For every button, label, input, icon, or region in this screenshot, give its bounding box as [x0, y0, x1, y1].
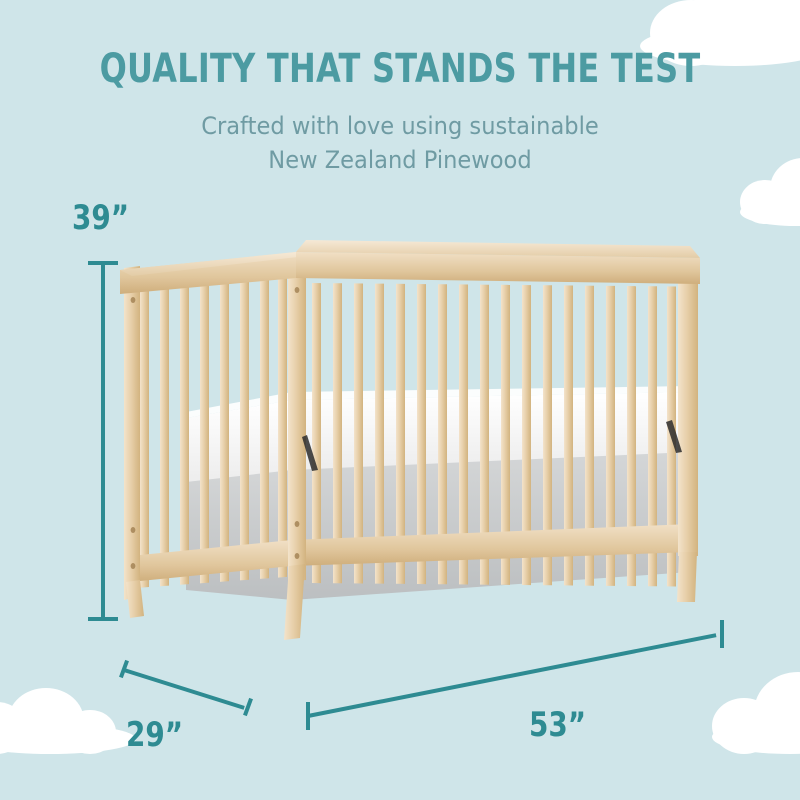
corner-post-right	[678, 262, 698, 556]
dimension-height-39-cap-bottom	[88, 617, 118, 621]
corner-post-left	[124, 266, 140, 600]
dimension-height-39-cap-top	[88, 261, 118, 265]
dimension-height-39-line	[101, 262, 105, 620]
dimension-width-53-cap-end	[720, 620, 724, 648]
leg-right	[677, 552, 697, 602]
crib-illustration	[0, 0, 800, 800]
dimension-height-39-label: 39”	[72, 198, 129, 238]
dimension-width-53-label: 53”	[529, 705, 586, 745]
dimension-width-53-cap-start	[306, 702, 310, 730]
dimension-depth-29-label: 29”	[126, 715, 183, 755]
infographic-canvas: QUALITY THAT STANDS THE TEST Crafted wit…	[0, 0, 800, 800]
corner-post-center	[288, 256, 306, 582]
